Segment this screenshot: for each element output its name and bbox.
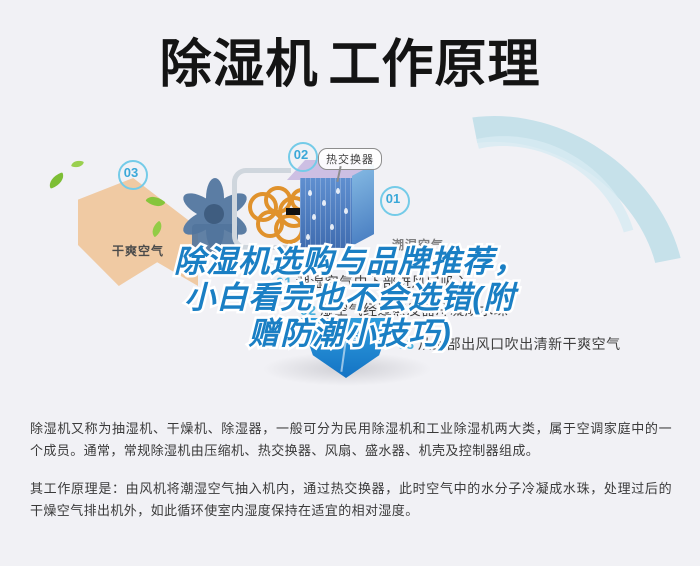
leaf-icon: [71, 158, 84, 169]
overlay-headline-line2: 小白看完也不会选错(附: [0, 280, 700, 316]
page-title: 除湿机工作原理: [0, 34, 700, 96]
water-droplet-icon: [322, 200, 326, 206]
overlay-headline-line1: 除湿机选购与品牌推荐，: [0, 244, 700, 280]
step-badge-03: 03: [118, 160, 144, 186]
overlay-headline-line3: 赠防潮小技巧): [0, 316, 700, 352]
overlay-headline: 除湿机选购与品牌推荐， 小白看完也不会选错(附 赠防潮小技巧): [0, 244, 700, 352]
water-droplet-icon: [330, 224, 334, 230]
water-droplet-icon: [306, 234, 310, 240]
water-droplet-icon: [344, 208, 348, 214]
page-title-part1: 除湿机: [159, 36, 318, 94]
page-root: 除湿机工作原理 干爽空气 03: [0, 0, 700, 566]
article-body: 除湿机又称为抽湿机、干燥机、除湿器，一般可分为民用除湿机和工业除湿机两大类，属于…: [30, 418, 672, 522]
water-droplet-icon: [308, 190, 312, 196]
page-title-part2: 工作原理: [329, 36, 541, 94]
step-badge-01: 01: [380, 186, 406, 212]
water-droplet-icon: [312, 214, 316, 220]
step-badge-02: 02: [288, 142, 314, 168]
leaf-icon: [47, 172, 67, 189]
heat-exchanger-callout: 热交换器: [318, 148, 382, 170]
fan-hub: [204, 204, 224, 224]
heat-exchanger-side: [352, 164, 374, 246]
article-paragraph-2: 其工作原理是：由风机将潮湿空气抽入机内，通过热交换器，此时空气中的水分子冷凝成水…: [30, 478, 672, 522]
article-paragraph-1: 除湿机又称为抽湿机、干燥机、除湿器，一般可分为民用除湿机和工业除湿机两大类，属于…: [30, 418, 672, 462]
water-droplet-icon: [336, 188, 340, 194]
